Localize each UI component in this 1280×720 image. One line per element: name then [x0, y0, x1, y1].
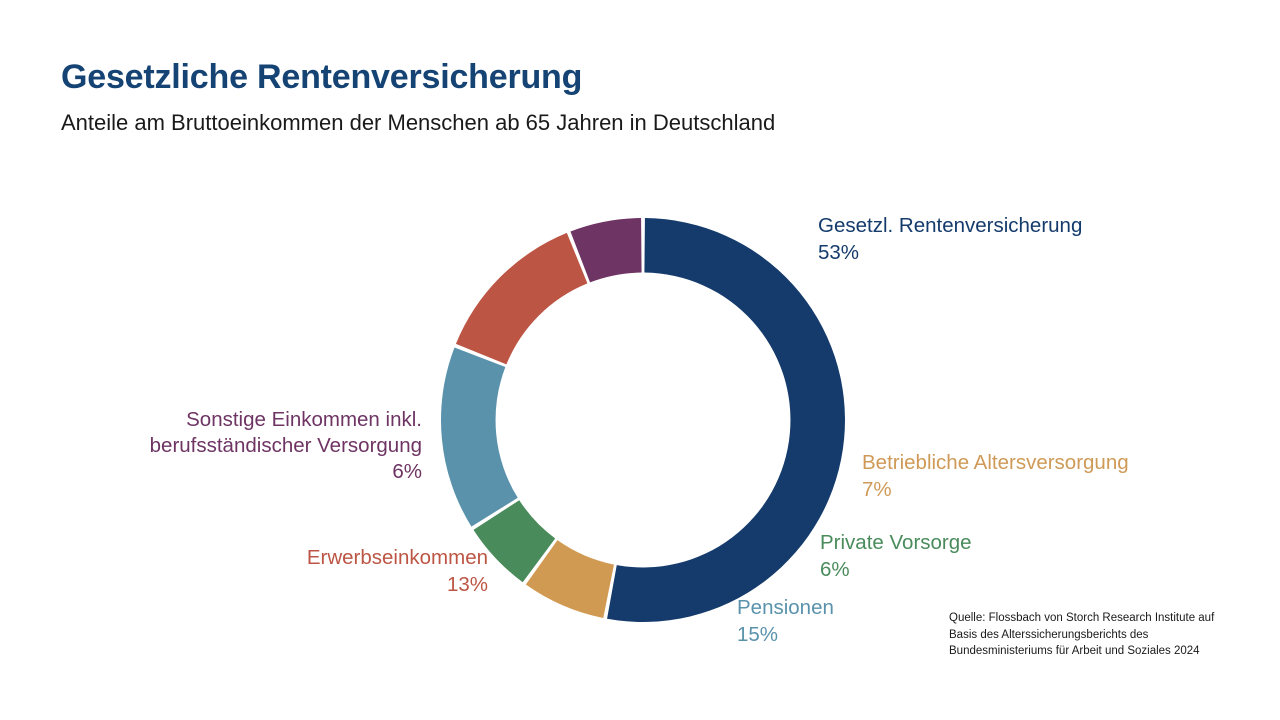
- slice-label-pensionen: Pensionen 15%: [737, 595, 834, 648]
- slice-label-value: 15%: [737, 622, 834, 649]
- slice-label-name: Gesetzl. Rentenversicherung: [818, 214, 1082, 237]
- page-subtitle: Anteile am Bruttoeinkommen der Menschen …: [61, 110, 775, 136]
- slice-label-name-line1: Sonstige Einkommen inkl.: [186, 408, 422, 431]
- slice-label-name: Pensionen: [737, 596, 834, 619]
- source-note-line3: Bundesministeriums für Arbeit und Sozial…: [949, 643, 1234, 660]
- slice-label-value: 6%: [820, 557, 972, 584]
- donut-chart-svg: [438, 215, 848, 625]
- source-note-line2: Basis des Alterssicherungsberichts des: [949, 627, 1234, 644]
- slice-label-name-line2: berufsständischer Versorgung: [150, 434, 422, 457]
- donut-slice: [441, 347, 518, 526]
- slice-label-value: 6%: [122, 459, 422, 485]
- donut-chart: [438, 215, 848, 625]
- source-note: Quelle: Flossbach von Storch Research In…: [949, 610, 1234, 660]
- chart-canvas: Gesetzliche Rentenversicherung Anteile a…: [0, 0, 1280, 720]
- slice-label-value: 13%: [307, 572, 488, 599]
- slice-label-sonstige-einkommen: Sonstige Einkommen inkl. berufsständisch…: [122, 407, 422, 486]
- slice-label-name: Private Vorsorge: [820, 531, 972, 554]
- slice-label-betriebliche-altersversorgung: Betriebliche Altersversorgung 7%: [862, 450, 1129, 503]
- source-note-line1: Quelle: Flossbach von Storch Research In…: [949, 610, 1234, 627]
- page-title: Gesetzliche Rentenversicherung: [61, 58, 582, 97]
- slice-label-gesetzliche-rentenversicherung: Gesetzl. Rentenversicherung 53%: [818, 213, 1082, 266]
- slice-label-name: Betriebliche Altersversorgung: [862, 451, 1129, 474]
- slice-label-erwerbseinkommen: Erwerbseinkommen 13%: [307, 545, 488, 598]
- slice-label-value: 53%: [818, 240, 1082, 267]
- slice-label-value: 7%: [862, 477, 1129, 504]
- donut-slice-group: [441, 218, 845, 622]
- slice-label-name: Erwerbseinkommen: [307, 546, 488, 569]
- slice-label-private-vorsorge: Private Vorsorge 6%: [820, 530, 972, 583]
- donut-slice: [456, 233, 587, 364]
- donut-slice: [607, 218, 845, 622]
